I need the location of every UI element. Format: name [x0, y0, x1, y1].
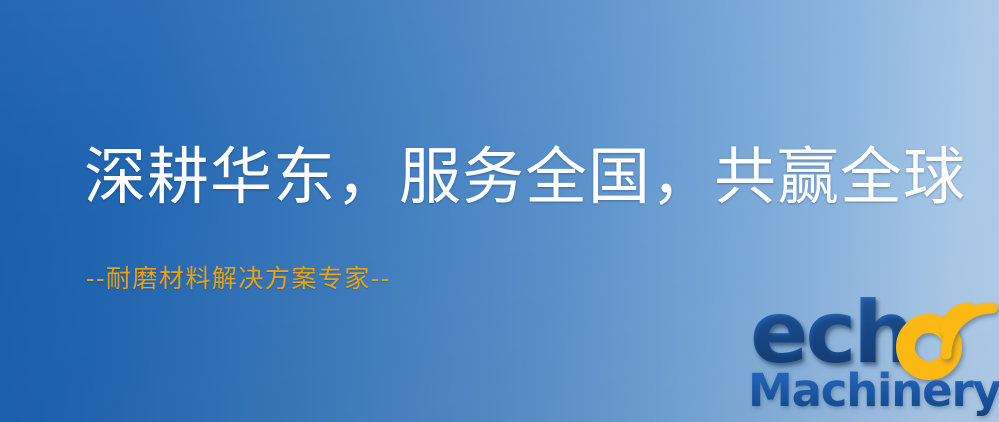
- banner-headline: 深耕华东，服务全国，共赢全球: [84, 146, 966, 208]
- banner-subtitle: --耐磨材料解决方案专家--: [86, 266, 391, 291]
- logo-wordmark-machinery: Machinery: [748, 364, 999, 417]
- promo-banner: 深耕华东，服务全国，共赢全球 --耐磨材料解决方案专家-- ech Machin…: [0, 0, 999, 422]
- signal-waves-icon: [936, 298, 998, 360]
- logo-tagline-row: Machinery®: [748, 368, 996, 413]
- echo-machinery-logo: ech Machinery®: [748, 296, 996, 422]
